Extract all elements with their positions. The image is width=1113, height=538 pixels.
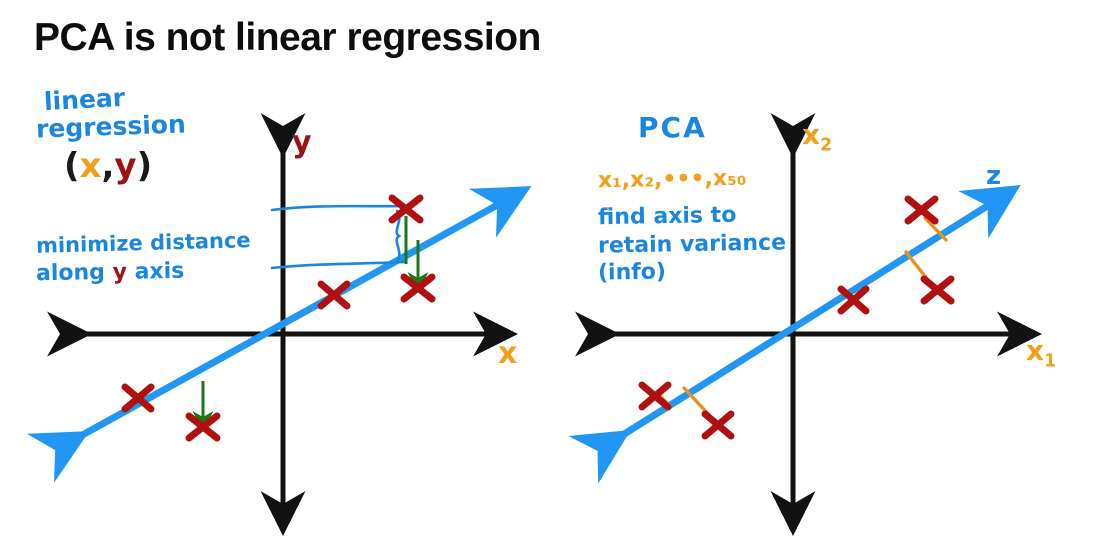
left-note-line2: along y axis bbox=[36, 259, 185, 287]
left-axes bbox=[72, 138, 498, 516]
left-note-along: along bbox=[36, 260, 113, 286]
right-x2-axis-label: x2 bbox=[802, 118, 832, 156]
left-tuple-annotation: (x,y) bbox=[64, 146, 152, 186]
tuple-x-label: x bbox=[80, 146, 102, 186]
projection-line-q1 bbox=[658, 394, 670, 406]
data-point-marker bbox=[189, 416, 217, 438]
data-point-marker bbox=[404, 277, 432, 299]
data-point-marker bbox=[908, 199, 935, 221]
data-point-marker bbox=[125, 387, 151, 409]
left-note-y: y bbox=[112, 260, 127, 285]
data-point-marker bbox=[321, 284, 347, 306]
right-x1-axis-label: x1 bbox=[1026, 334, 1056, 372]
left-distance-annotation bbox=[272, 206, 404, 268]
right-heading: PCA bbox=[638, 112, 707, 143]
tuple-y-label: y bbox=[114, 146, 136, 186]
left-x-axis-label: x bbox=[498, 337, 517, 371]
right-note-line1: find axis to bbox=[598, 204, 737, 231]
projection-line-q2 bbox=[684, 388, 712, 418]
right-variables-list: x₁,x₂,•••,x₅₀ bbox=[598, 167, 747, 194]
right-note-line2: retain variance bbox=[598, 231, 786, 259]
tuple-open-paren: ( bbox=[64, 146, 80, 186]
left-heading-line2: regression bbox=[36, 110, 187, 143]
data-point-marker bbox=[642, 385, 668, 407]
data-point-marker bbox=[392, 198, 420, 220]
data-point-marker bbox=[924, 279, 951, 301]
left-note-axis: axis bbox=[127, 259, 185, 285]
right-x1-base: x bbox=[1026, 334, 1044, 367]
tuple-comma: , bbox=[101, 146, 114, 186]
right-axes bbox=[600, 138, 1022, 516]
right-x2-base: x bbox=[802, 118, 820, 151]
right-note-line3: (info) bbox=[598, 260, 666, 286]
data-point-marker bbox=[841, 289, 866, 311]
projection-line-q5 bbox=[925, 218, 946, 240]
right-z-axis-label: z bbox=[986, 162, 1001, 191]
tuple-close-paren: ) bbox=[137, 146, 153, 186]
slide-canvas: PCA is not linear regression linear regr… bbox=[0, 0, 1113, 538]
left-y-axis-label: y bbox=[292, 126, 312, 160]
left-note-line1: minimize distance bbox=[36, 229, 251, 258]
right-x2-subscript: 2 bbox=[820, 136, 832, 156]
projection-line-q4 bbox=[906, 252, 931, 284]
data-point-marker bbox=[705, 414, 731, 436]
page-title: PCA is not linear regression bbox=[34, 16, 541, 60]
right-x1-subscript: 1 bbox=[1044, 352, 1056, 372]
